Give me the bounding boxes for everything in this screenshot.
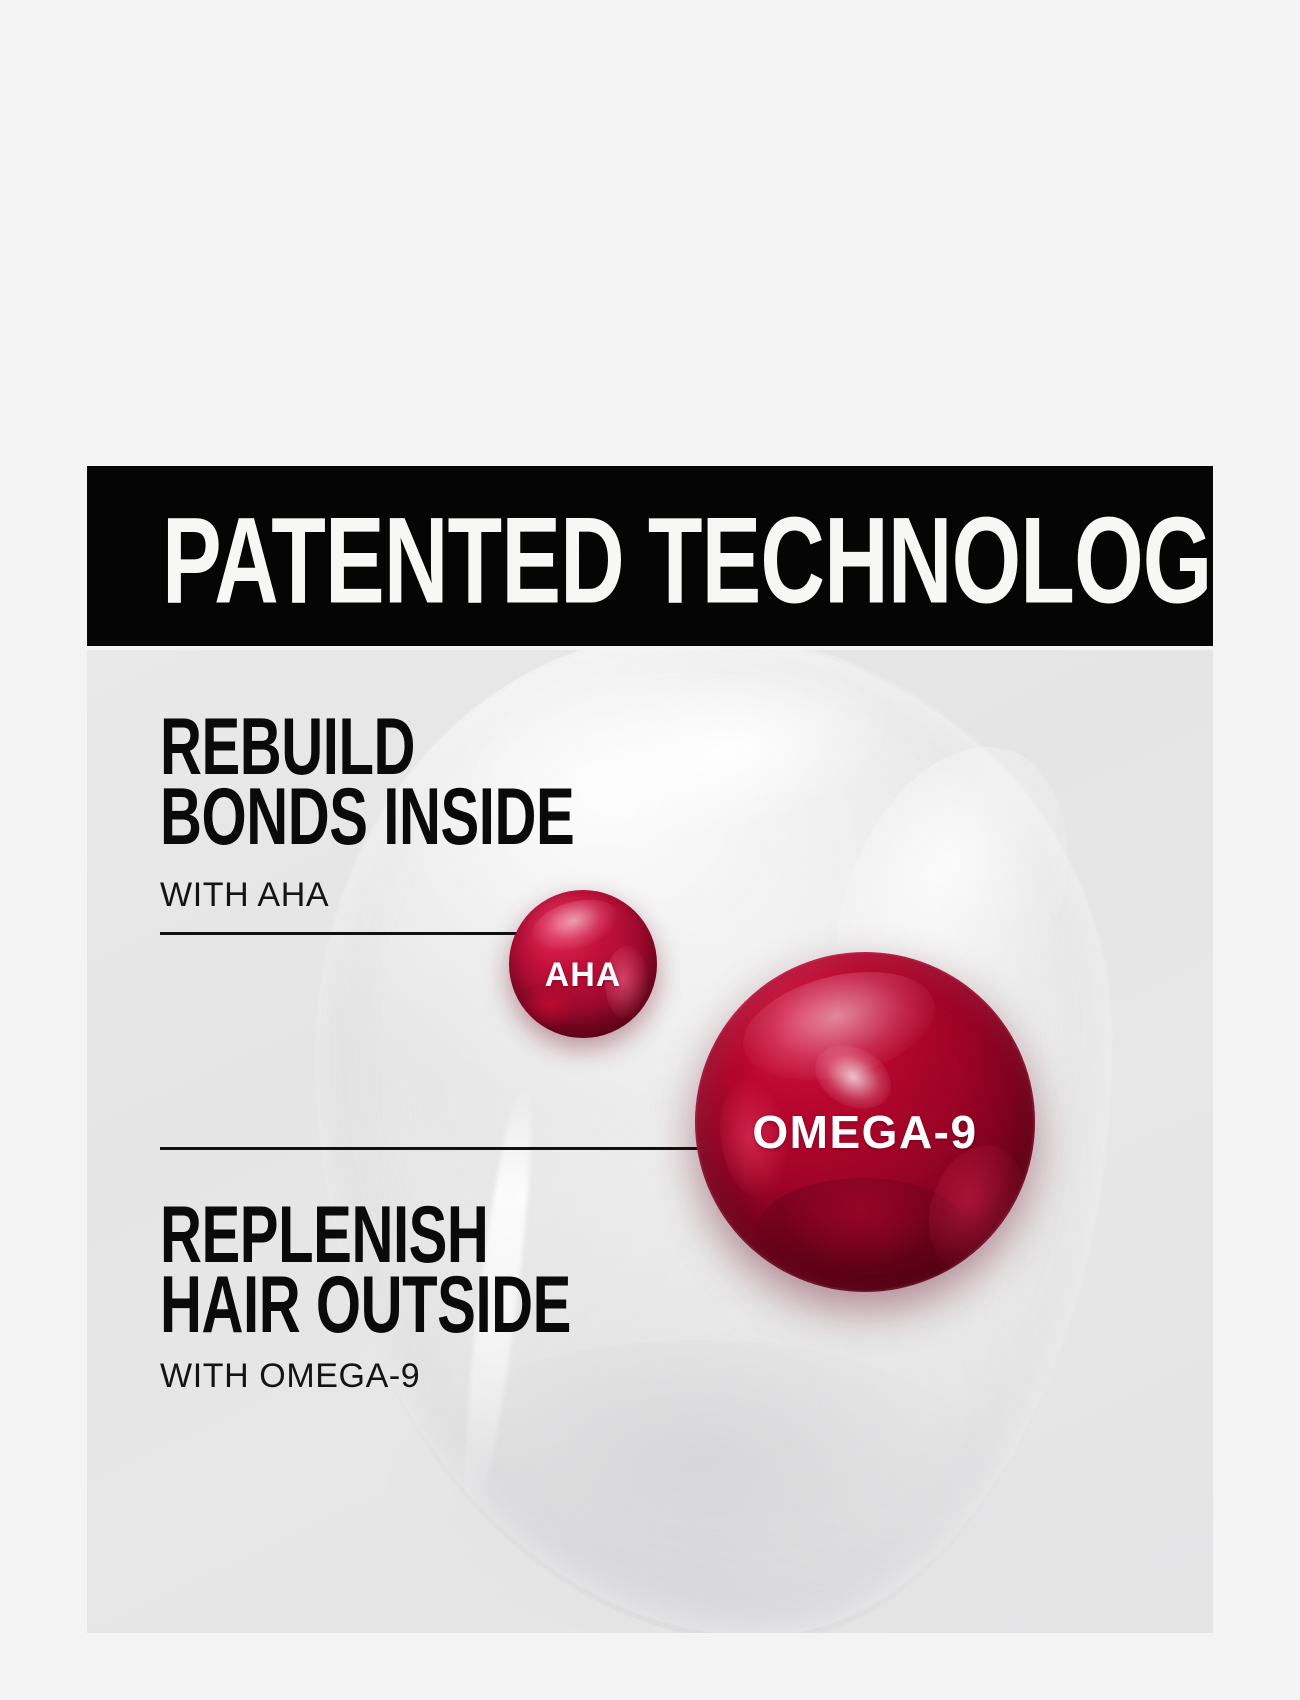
banner: PATENTED TECHNOLOGY [87,466,1213,646]
top-claim-block: REBUILD BONDS INSIDE [160,712,631,826]
gel-blob-shadow [387,1340,1007,1633]
bottom-claim-headline: REPLENISH HAIR OUTSIDE [160,1200,571,1338]
top-claim-rule [160,932,526,935]
bottom-claim-rule [160,1147,712,1150]
aha-bubble: AHA [509,890,657,1038]
bottom-claim-headline-line2: HAIR OUTSIDE [160,1269,571,1338]
top-claim-subhead: WITH AHA [160,876,329,915]
omega9-bubble-shadow [757,1178,967,1282]
omega9-bubble-label: OMEGA-9 [752,1105,977,1159]
bottom-claim-subhead: WITH OMEGA-9 [160,1357,420,1396]
aha-bubble-label: AHA [545,956,622,995]
banner-title: PATENTED TECHNOLOGY [162,500,1213,623]
patented-technology-card: PATENTED TECHNOLOGY REBUILD BONDS INSIDE… [87,466,1213,1633]
top-claim-headline-line2: BONDS INSIDE [160,781,574,850]
top-claim-headline: REBUILD BONDS INSIDE [160,712,574,850]
omega9-bubble-highlight-top [732,954,946,1098]
omega9-bubble: OMEGA-9 [695,952,1035,1292]
product-panel: REBUILD BONDS INSIDE WITH AHA REPLENISH … [87,650,1213,1633]
bottom-claim-block: REPLENISH HAIR OUTSIDE [160,1200,627,1314]
aha-bubble-highlight-top [526,891,623,959]
